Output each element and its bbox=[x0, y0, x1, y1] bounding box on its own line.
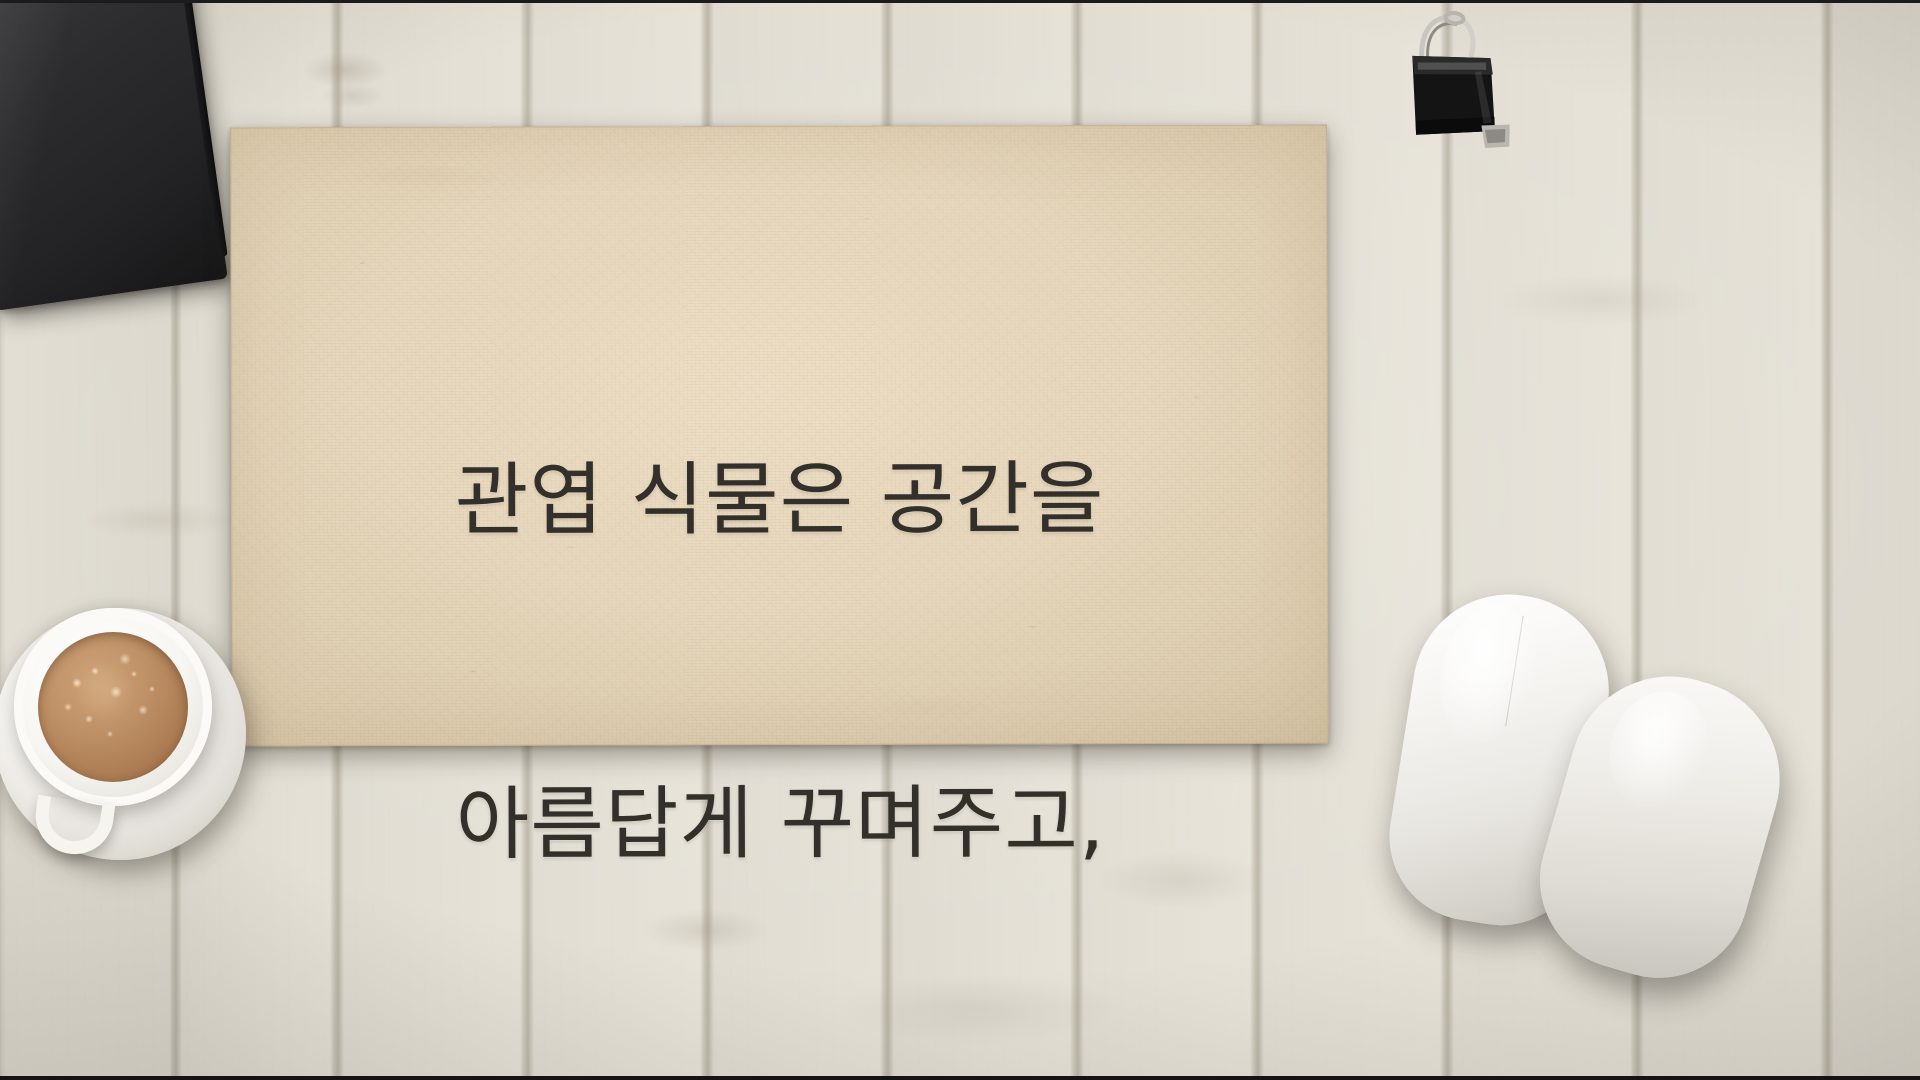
desk-scene: 관엽 식물은 공간을 아름답게 꾸며주고, 환경을 쾌적하게 만드는 역할을 합… bbox=[0, 0, 1920, 1080]
quote-text-block: 관엽 식물은 공간을 아름답게 꾸며주고, 환경을 쾌적하게 만드는 역할을 합… bbox=[230, 229, 1331, 1080]
binder-clip bbox=[1373, 0, 1528, 161]
notebook bbox=[0, 0, 228, 311]
letterbox-top bbox=[0, 0, 1920, 3]
letterbox-bottom bbox=[0, 1076, 1920, 1080]
quote-line-2: 아름답게 꾸며주고, bbox=[232, 769, 1329, 880]
paper-card: 관엽 식물은 공간을 아름답게 꾸며주고, 환경을 쾌적하게 만드는 역할을 합… bbox=[230, 125, 1329, 747]
coffee-liquid bbox=[38, 632, 188, 782]
coffee-foam bbox=[38, 632, 188, 782]
quote-line-1: 관엽 식물은 공간을 bbox=[231, 445, 1328, 556]
mouse-button-seam bbox=[1505, 616, 1524, 727]
binder-clip-icon bbox=[1373, 0, 1528, 161]
